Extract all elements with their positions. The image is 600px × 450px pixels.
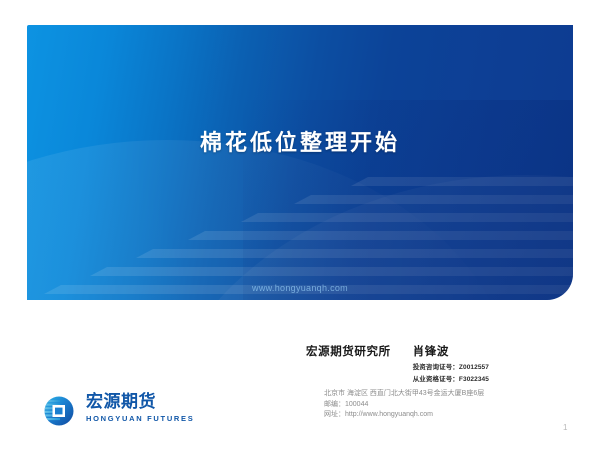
company-website: 网址：http://www.hongyuanqh.com xyxy=(324,410,484,421)
practice-cert-number: 从业资格证号：F3022345 xyxy=(413,373,489,383)
logo-name-cn: 宏源期货 xyxy=(86,392,194,412)
author-block: 肖锋波 投资咨询证号：Z0012557 从业资格证号：F3022345 xyxy=(413,343,489,383)
company-logo: 宏源期货 HONGYUAN FUTURES xyxy=(38,391,213,431)
logo-wordmark: 宏源期货 HONGYUAN FUTURES xyxy=(86,392,194,423)
company-address: 北京市 海淀区 西直门北大街甲43号金运大厦B座6层 xyxy=(324,389,484,400)
author-name: 肖锋波 xyxy=(413,343,489,359)
byline: 宏源期货研究所 肖锋波 投资咨询证号：Z0012557 从业资格证号：F3022… xyxy=(306,343,489,383)
slide-title: 棉花低位整理开始 xyxy=(27,25,573,300)
company-postcode: 邮编：100044 xyxy=(324,400,484,411)
banner-watermark: www.hongyuanqh.com xyxy=(27,283,573,293)
logo-name-en: HONGYUAN FUTURES xyxy=(86,414,194,423)
title-banner: 棉花低位整理开始 www.hongyuanqh.com xyxy=(27,25,573,300)
research-department: 宏源期货研究所 xyxy=(306,343,391,359)
slide-footer: 宏源期货 HONGYUAN FUTURES 宏源期货研究所 肖锋波 投资咨询证号… xyxy=(0,335,600,450)
hongyuan-logo-icon xyxy=(38,391,78,431)
investment-cert-number: 投资咨询证号：Z0012557 xyxy=(413,361,489,371)
contact-block: 北京市 海淀区 西直门北大街甲43号金运大厦B座6层 邮编：100044 网址：… xyxy=(324,389,484,421)
page-number: 1 xyxy=(563,423,567,432)
